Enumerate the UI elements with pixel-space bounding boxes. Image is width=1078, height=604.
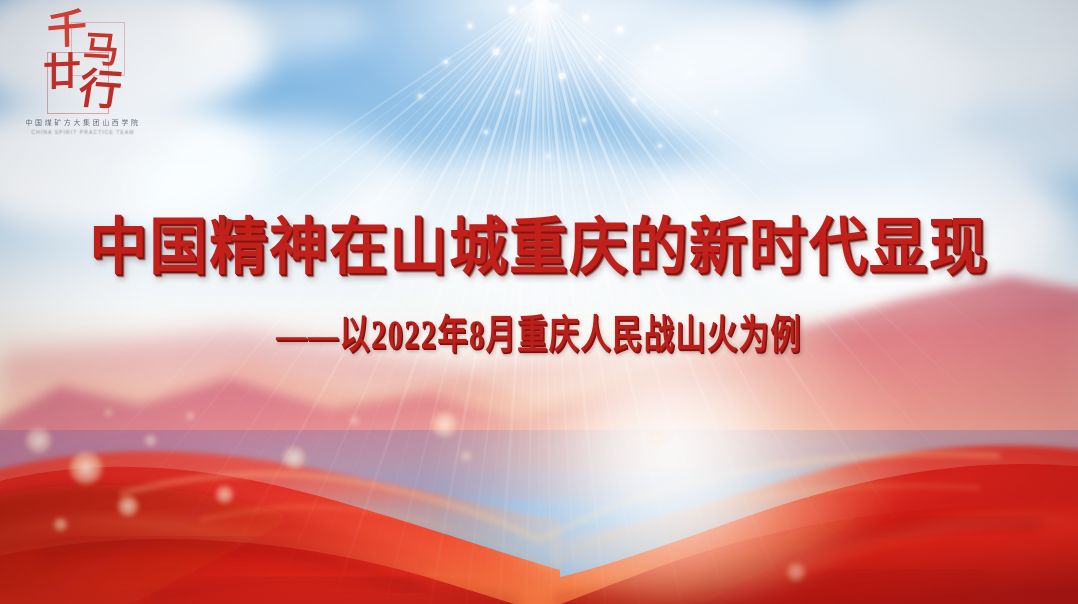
logo-char-1: 千	[47, 8, 88, 52]
logo-subtitle-en: CHINA SPIRIT PRACTICE TEAM	[8, 130, 158, 136]
bokeh-circle	[144, 434, 157, 447]
bokeh-circle	[53, 517, 68, 532]
logo-calligraphy: 千 马 廿 行	[33, 8, 133, 116]
page-subtitle: ——以2022年8月重庆人民战山火为例	[133, 302, 945, 360]
logo-char-3: 廿	[43, 53, 81, 93]
logo-char-2: 马	[82, 31, 120, 69]
bokeh-circle	[69, 451, 103, 485]
bokeh-circle	[25, 427, 52, 454]
bokeh-circle	[117, 495, 139, 517]
logo-subtitle-cn: 中国煤矿方大集团山西学院	[8, 118, 158, 128]
organization-logo[interactable]: 千 马 廿 行 中国煤矿方大集团山西学院 CHINA SPIRIT PRACTI…	[8, 8, 158, 136]
logo-char-4: 行	[76, 69, 125, 114]
title-slide: 千 马 廿 行 中国煤矿方大集团山西学院 CHINA SPIRIT PRACTI…	[0, 0, 1078, 604]
title-group: 中国精神在山城重庆的新时代显现 ——以2022年8月重庆人民战山火为例	[0, 216, 1078, 360]
bokeh-circle	[215, 485, 234, 504]
page-title: 中国精神在山城重庆的新时代显现	[34, 216, 1044, 282]
bokeh-circle	[282, 446, 306, 470]
